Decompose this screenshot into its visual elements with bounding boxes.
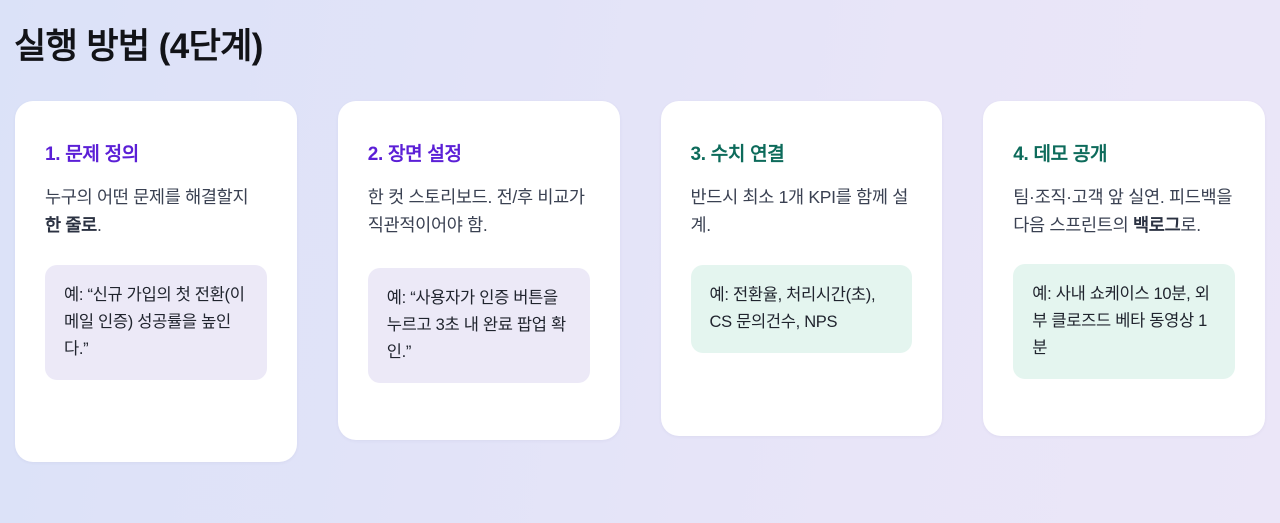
step-card-2-body: 한 컷 스토리보드. 전/후 비교가 직관적이어야 함. (368, 183, 590, 240)
step-card-1-body-prefix: 누구의 어떤 문제를 해결할지 (45, 187, 248, 207)
step-card-4-example: 예: 사내 쇼케이스 10분, 외부 클로즈드 베타 동영상 1분 (1013, 264, 1235, 378)
step-card-1-body-suffix: . (97, 215, 102, 235)
step-card-4[interactable]: 4. 데모 공개 팀·조직·고객 앞 실연. 피드백을 다음 스프린트의 백로그… (983, 101, 1265, 436)
step-card-1-body: 누구의 어떤 문제를 해결할지 한 줄로. (45, 183, 267, 240)
step-card-2-body-prefix: 한 컷 스토리보드. 전/후 비교가 직관적이어야 함. (368, 187, 585, 235)
step-card-2-heading: 2. 장면 설정 (368, 143, 590, 167)
step-cards-row: 1. 문제 정의 누구의 어떤 문제를 해결할지 한 줄로. 예: “신규 가입… (14, 101, 1266, 462)
step-card-4-body-bold: 백로그 (1133, 215, 1180, 235)
step-card-1[interactable]: 1. 문제 정의 누구의 어떤 문제를 해결할지 한 줄로. 예: “신규 가입… (15, 101, 297, 462)
step-card-1-body-bold: 한 줄로 (45, 215, 97, 235)
step-card-4-body-suffix: 로. (1180, 215, 1200, 235)
step-card-4-body: 팀·조직·고객 앞 실연. 피드백을 다음 스프린트의 백로그로. (1013, 183, 1235, 240)
step-card-3-body-prefix: 반드시 최소 1개 KPI를 함께 설계. (691, 187, 909, 235)
slide-root: 실행 방법 (4단계) 1. 문제 정의 누구의 어떤 문제를 해결할지 한 줄… (0, 0, 1280, 523)
step-card-3-heading: 3. 수치 연결 (691, 143, 913, 167)
step-card-4-heading: 4. 데모 공개 (1013, 143, 1235, 167)
step-card-3-example: 예: 전환율, 처리시간(초), CS 문의건수, NPS (691, 265, 913, 352)
step-card-1-example: 예: “신규 가입의 첫 전환(이메일 인증) 성공률을 높인다.” (45, 265, 267, 379)
step-card-2[interactable]: 2. 장면 설정 한 컷 스토리보드. 전/후 비교가 직관적이어야 함. 예:… (338, 101, 620, 440)
step-card-3[interactable]: 3. 수치 연결 반드시 최소 1개 KPI를 함께 설계. 예: 전환율, 처… (661, 101, 943, 436)
step-card-2-example: 예: “사용자가 인증 버튼을 누르고 3초 내 완료 팝업 확인.” (368, 268, 590, 382)
step-card-3-body: 반드시 최소 1개 KPI를 함께 설계. (691, 183, 913, 240)
page-title: 실행 방법 (4단계) (14, 26, 1266, 68)
step-card-1-heading: 1. 문제 정의 (45, 143, 267, 167)
